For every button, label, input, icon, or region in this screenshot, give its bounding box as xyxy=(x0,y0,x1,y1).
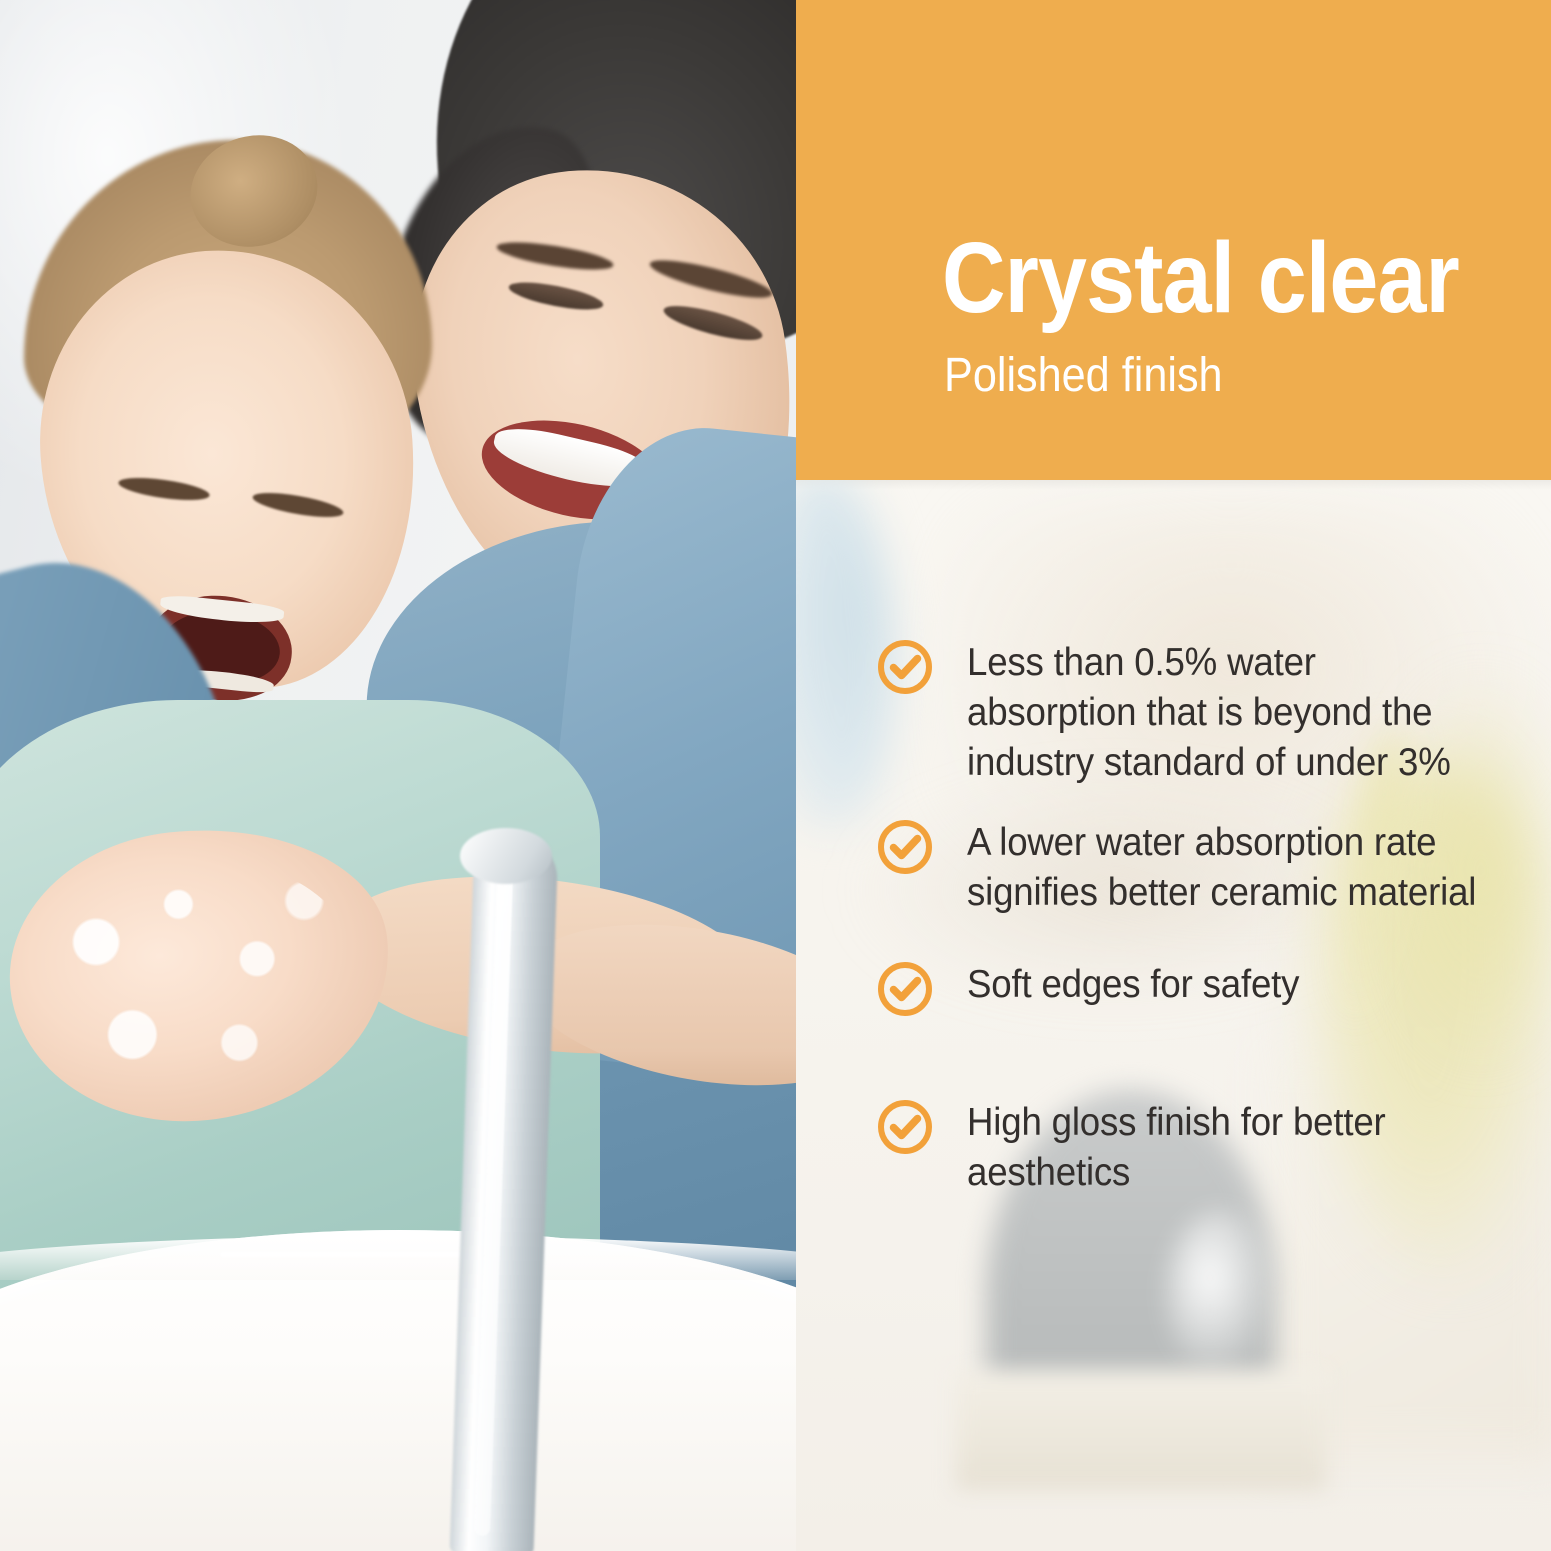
check-circle-icon xyxy=(876,638,934,696)
feature-item: High gloss finish for better aesthetics xyxy=(876,1098,1526,1198)
check-circle-icon xyxy=(876,1098,934,1156)
feature-item: Soft edges for safety xyxy=(876,960,1526,1018)
feature-text: A lower water absorption rate signifies … xyxy=(967,818,1492,918)
content-panel: Crystal clear Polished finish Less than … xyxy=(796,0,1551,1551)
lifestyle-photo xyxy=(0,0,796,1551)
photo-basin-highlight xyxy=(220,1252,480,1257)
feature-text: High gloss finish for better aesthetics xyxy=(967,1098,1492,1198)
feature-item: A lower water absorption rate signifies … xyxy=(876,818,1526,918)
feature-list: Less than 0.5% water absorption that is … xyxy=(796,0,1551,1551)
check-circle-icon xyxy=(876,960,934,1018)
photo-faucet-spout xyxy=(460,828,552,884)
check-circle-icon xyxy=(876,818,934,876)
feature-item: Less than 0.5% water absorption that is … xyxy=(876,638,1526,788)
photo-basin-rim xyxy=(0,1236,796,1280)
feature-text: Less than 0.5% water absorption that is … xyxy=(967,638,1492,788)
feature-text: Soft edges for safety xyxy=(967,960,1492,1010)
product-feature-card: Crystal clear Polished finish Less than … xyxy=(0,0,1551,1551)
